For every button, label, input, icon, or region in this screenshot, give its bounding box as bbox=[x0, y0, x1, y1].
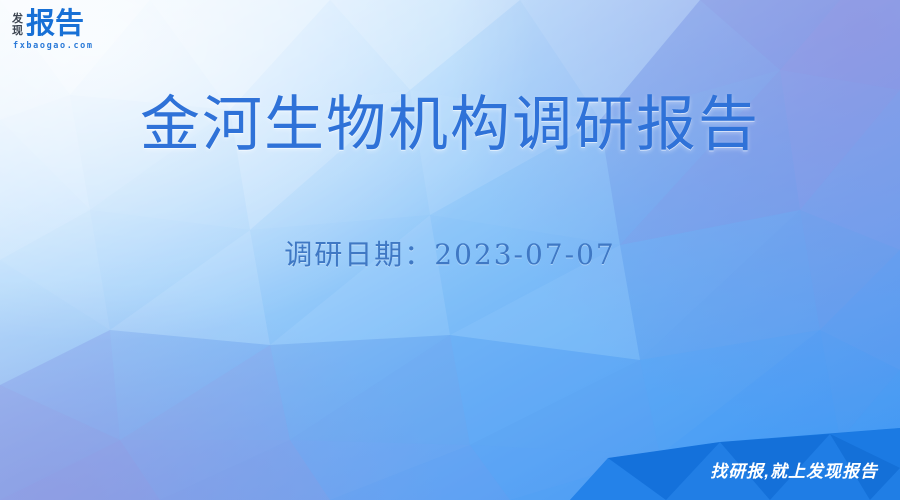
logo-char-bottom: 现 bbox=[12, 25, 23, 37]
logo-stacked-characters: 发 现 bbox=[12, 13, 23, 39]
promo-banner: 找研报,就上发现报告 bbox=[570, 428, 900, 500]
logo-wordmark-row: 发 现 报告 bbox=[12, 10, 84, 39]
banner-slogan: 找研报,就上发现报告 bbox=[710, 457, 878, 482]
logo-wordmark: 报告 bbox=[26, 10, 84, 39]
slide-title: 金河生物机构调研报告 bbox=[0, 88, 900, 162]
site-logo[interactable]: 发 现 报告 fxbaogao.com bbox=[12, 10, 94, 51]
logo-char-top: 发 bbox=[12, 13, 23, 25]
logo-domain-text: fxbaogao.com bbox=[13, 42, 94, 51]
slide-subtitle-survey-date: 调研日期：2023-07-07 bbox=[0, 236, 900, 274]
presentation-slide: 发 现 报告 fxbaogao.com 金河生物机构调研报告 调研日期：2023… bbox=[0, 0, 900, 500]
